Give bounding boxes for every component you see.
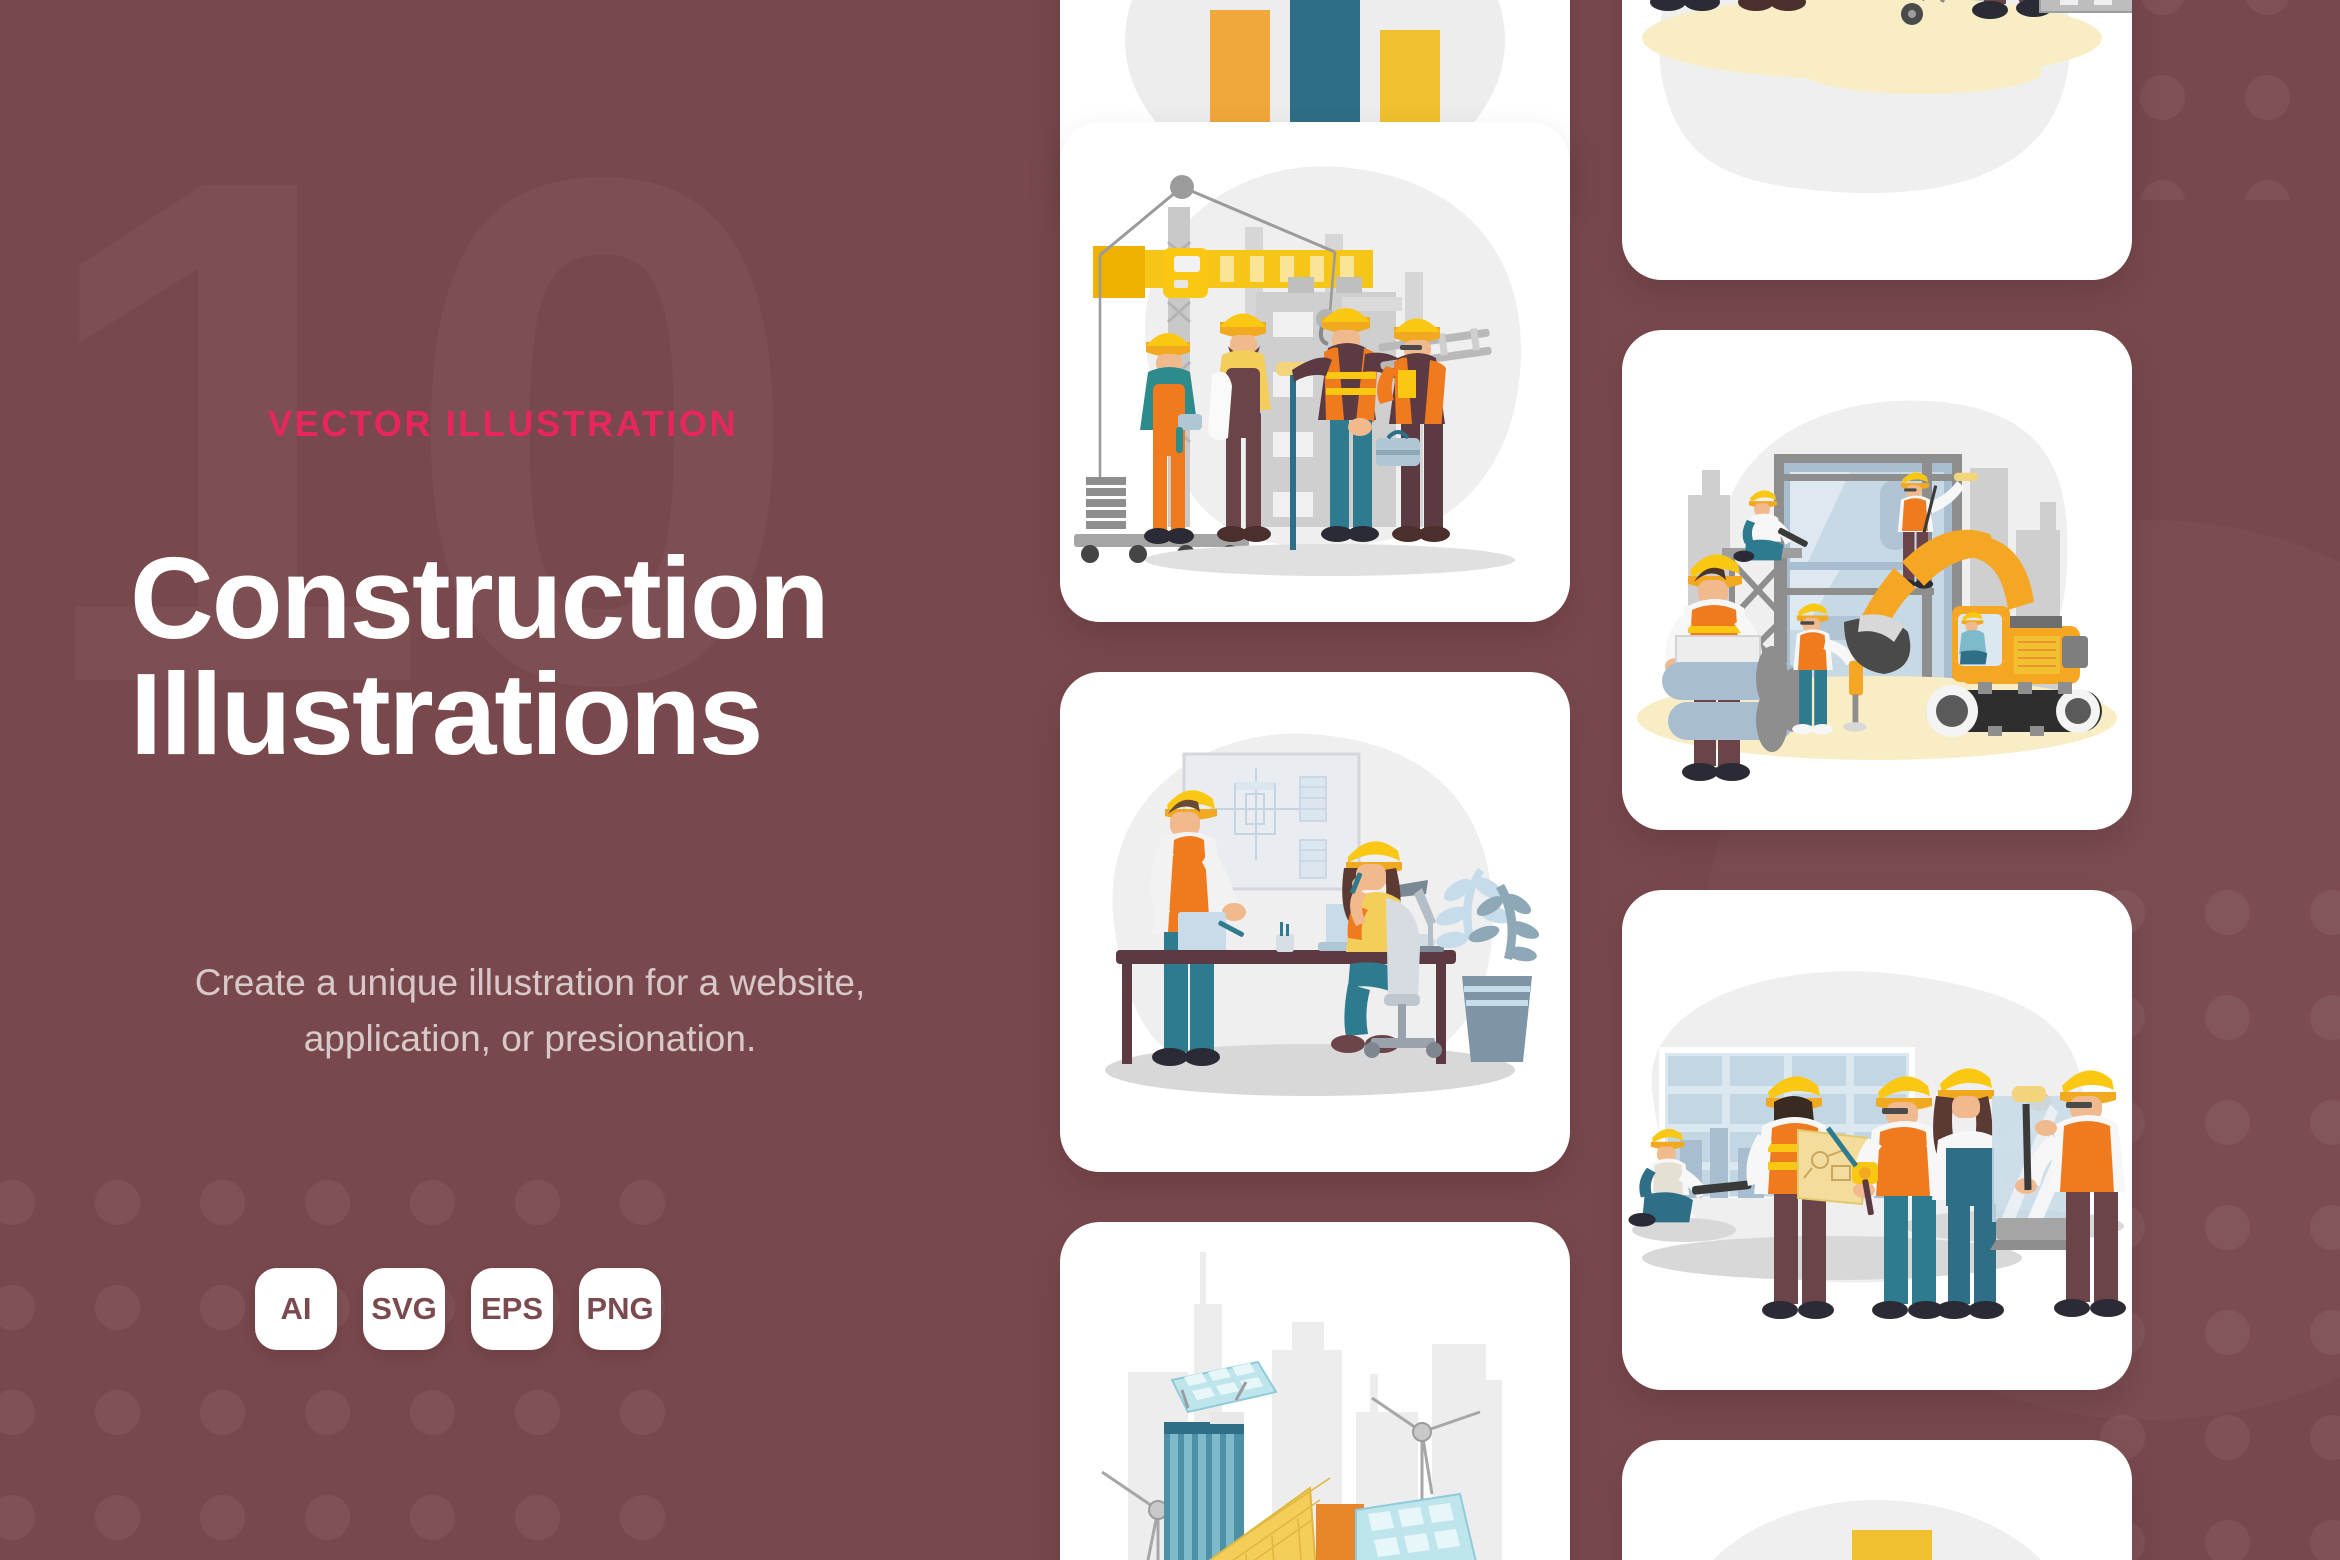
bricklayers-illustration (1622, 0, 2132, 280)
page-subtitle: Create a unique illustration for a websi… (120, 955, 940, 1066)
format-badge-eps[interactable]: EPS (471, 1268, 553, 1350)
office-desk-illustration (1060, 672, 1570, 1172)
format-badge-list: AI SVG EPS PNG (255, 1268, 661, 1350)
hero-panel: VECTOR ILLUSTRATION Construction Illustr… (0, 0, 1060, 1560)
window-install-illustration (1622, 890, 2132, 1390)
eyebrow-label: VECTOR ILLUSTRATION (268, 403, 738, 445)
eco-city-card[interactable] (1060, 1222, 1570, 1560)
partial-illustration-bottom (1622, 1440, 2132, 1560)
format-badge-svg[interactable]: SVG (363, 1268, 445, 1350)
partial-card-bottom-right[interactable] (1622, 1440, 2132, 1560)
bricklayers-card[interactable] (1622, 0, 2132, 280)
excavator-scaffold-illustration (1622, 330, 2132, 830)
dot-pattern-top-right (2110, 0, 2340, 200)
eco-city-illustration (1060, 1222, 1570, 1560)
crane-team-illustration (1060, 122, 1570, 622)
format-badge-ai[interactable]: AI (255, 1268, 337, 1350)
crane-team-card[interactable] (1060, 122, 1570, 622)
excavator-scaffold-card[interactable] (1622, 330, 2132, 830)
page-title-line-2: Illustrations (130, 649, 761, 779)
page-title-line-1: Construction (130, 533, 828, 663)
office-desk-card[interactable] (1060, 672, 1570, 1172)
page-title: Construction Illustrations (130, 540, 990, 772)
format-badge-png[interactable]: PNG (579, 1268, 661, 1350)
window-install-card[interactable] (1622, 890, 2132, 1390)
